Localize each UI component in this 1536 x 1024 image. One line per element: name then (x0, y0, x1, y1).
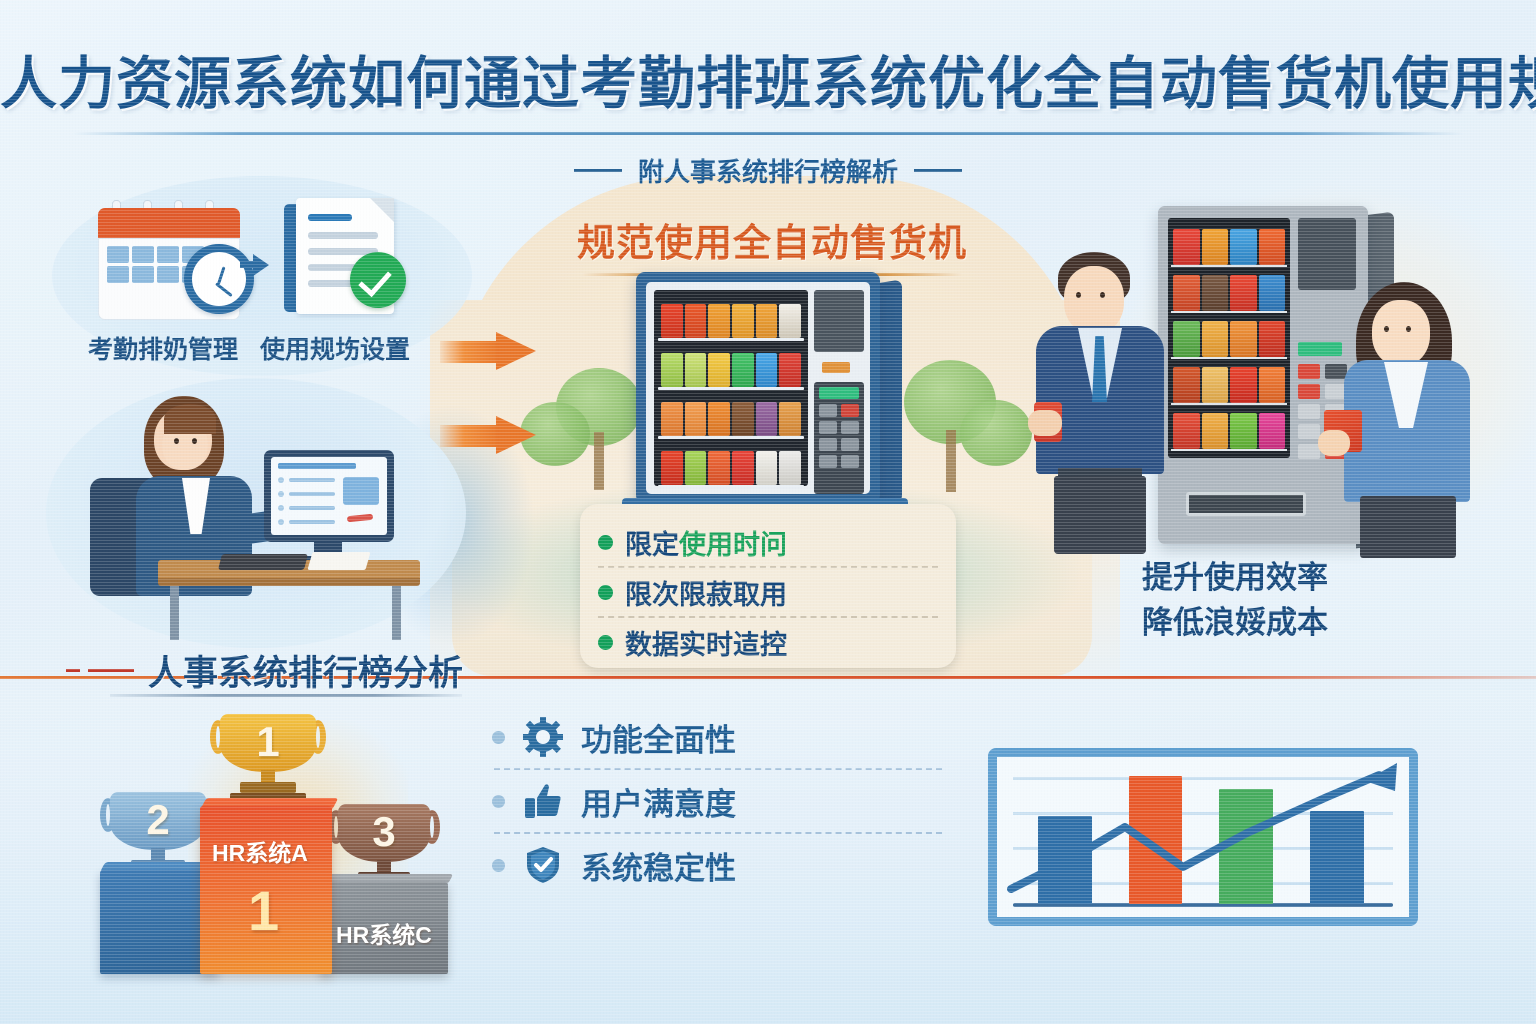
vending-display-screen-right (1298, 218, 1356, 290)
growth-chart (988, 748, 1418, 926)
desktop-monitor (264, 450, 394, 542)
vending-keypad (814, 382, 864, 494)
trophy-number-1: 1 (220, 718, 316, 766)
criteria-bullet-icon (492, 859, 505, 872)
ranking-title-underline (110, 694, 462, 697)
desk-edge (158, 578, 420, 586)
rule-label-2: 限次限菽取用 (625, 573, 787, 612)
criteria-list: 功能全面性 用户满意度 系统稳定性 (492, 706, 942, 896)
gear-icon (521, 715, 565, 759)
male-hand (1028, 410, 1062, 436)
vending-control-panel (814, 290, 864, 486)
left-icon-labels: 考勤排奶管理 使用规㘯设置 (88, 330, 478, 366)
trophy-first-place: 1 (220, 714, 316, 772)
male-trousers (1054, 476, 1146, 554)
podium-rank-number-first: 1 (248, 878, 279, 943)
check-circle-icon (350, 252, 406, 308)
subtitle-row: 附人事系统排行榜解析 (0, 152, 1536, 189)
center-heading: 规范使用全自动售货机 (452, 212, 1092, 267)
criteria-row-3[interactable]: 系统稳定性 (492, 834, 942, 896)
chart-trend-line (997, 757, 1409, 917)
female-face (1372, 300, 1430, 366)
center-heading-block: 规范使用全自动售货机 (452, 212, 1092, 276)
benefit-line-1: 提升使用效率 (1142, 556, 1472, 601)
thumbs-up-icon (521, 779, 565, 823)
ranking-section-title: 人事系统排行榜分析 (148, 645, 463, 696)
bullet-dot-icon (598, 635, 613, 650)
infographic-poster: 人力资源系统如何通过考勤排班系统优化全自动售货机使用规定 附人事系统排行榜解析 (0, 0, 1536, 1024)
arrow-right-icon (253, 254, 269, 276)
female-skirt (1360, 496, 1456, 558)
shield-check-icon (521, 843, 565, 887)
header: 人力资源系统如何通过考勤排班系统优化全自动售货机使用规定 附人事系统排行榜解析 (0, 38, 1536, 189)
rule-item-1: 限定使用时问 (598, 518, 938, 566)
vending-machine-center (636, 272, 910, 510)
hr-officer-scene (92, 392, 422, 642)
vending-display-screen (814, 290, 864, 352)
trophy-second-place: 2 (110, 792, 206, 850)
benefit-line-2: 降低浪娞成本 (1142, 601, 1472, 646)
vending-glass-window (654, 290, 808, 486)
title-underline (73, 132, 1463, 135)
criteria-row-1[interactable]: 功能全面性 (492, 706, 942, 768)
tree-left-trunk (594, 432, 604, 490)
criteria-label-2: 用户满意度 (581, 779, 736, 824)
rule-label-1: 限定使用时问 (625, 523, 787, 562)
rule-item-3: 数据实时迼控 (598, 618, 938, 666)
female-hand (1318, 430, 1350, 456)
ranking-podium: 2 1 3 HR系统A 1 HR (96, 700, 496, 990)
ranking-section-header: 人事系统排行榜分析 (88, 645, 463, 696)
criteria-label-1: 功能全面性 (581, 715, 736, 760)
benefits-block: 提升使用效率 降低浪娞成本 (1142, 556, 1472, 646)
page-title: 人力资源系统如何通过考勤排班系统优化全自动售货机使用规定 (0, 38, 1536, 120)
criteria-label-3: 系统稳定性 (581, 843, 736, 888)
person-hair-front (164, 404, 216, 434)
flow-arrow-bottom (440, 416, 536, 454)
trophy-number-2: 2 (110, 796, 206, 844)
rule-item-2: 限次限菽取用 (598, 568, 938, 616)
bullet-dot-icon (598, 585, 613, 600)
pickup-slot (1186, 492, 1306, 516)
trophy-number-3: 3 (338, 808, 430, 856)
employees-vending-scene (1030, 196, 1500, 586)
label-usage-rules: 使用规㘯设置 (260, 330, 410, 366)
female-employee (1330, 282, 1490, 556)
bullet-dot-icon (598, 535, 613, 550)
calendar-clock-icon (98, 200, 240, 312)
flow-arrow-top (440, 332, 536, 370)
rule-label-3: 数据实时迼控 (625, 623, 787, 662)
label-attendance-scheduling: 考勤排奶管理 (88, 330, 238, 366)
criteria-row-2[interactable]: 用户满意度 (492, 770, 942, 832)
male-face (1064, 266, 1124, 334)
chart-plot-area (997, 757, 1409, 917)
criteria-bullet-icon (492, 731, 505, 744)
trophy-third-place: 3 (338, 804, 430, 862)
tree-right-canopy-2 (960, 400, 1032, 466)
section-dash-icon (88, 669, 134, 672)
document-check-icon (284, 198, 396, 314)
tree-right-trunk (946, 430, 956, 492)
podium-label-third: HR系统C (336, 916, 432, 950)
paper-sheet (307, 552, 370, 570)
subtitle-dash-left (574, 169, 622, 172)
page-subtitle: 附人事系统排行榜解析 (638, 152, 898, 189)
male-employee (1030, 252, 1180, 552)
criteria-bullet-icon (492, 795, 505, 808)
keyboard (218, 554, 308, 570)
podium-label-first: HR系统A (212, 834, 308, 868)
usage-rules-card: 限定使用时问 限次限菽取用 数据实时迼控 (580, 504, 956, 668)
clock-icon (184, 244, 254, 314)
monitor-screen (271, 457, 387, 535)
keypad-status-light (819, 387, 859, 399)
left-icon-row (88, 192, 468, 322)
subtitle-dash-right (914, 169, 962, 172)
coin-slot (822, 362, 850, 373)
